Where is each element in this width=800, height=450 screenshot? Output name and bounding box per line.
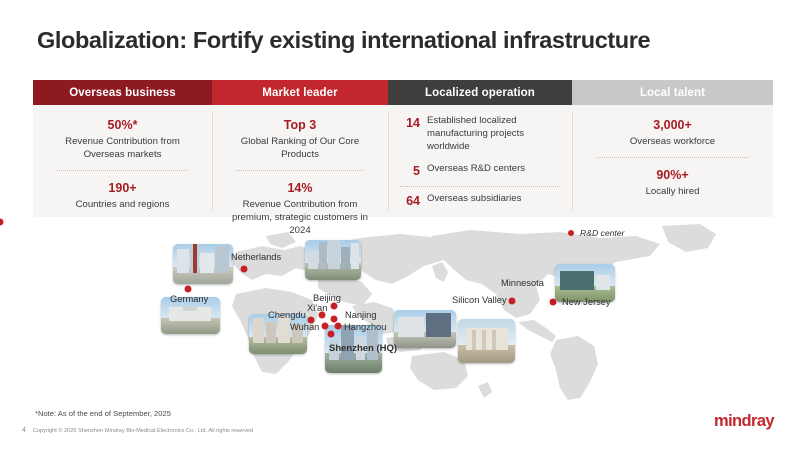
footnote: *Note: As of the end of September, 2025	[35, 409, 171, 418]
header-cell-local-talent: Local talent	[572, 80, 773, 105]
stats-panel: 50%* Revenue Contribution from Overseas …	[33, 105, 773, 217]
map-label-chengdu: Chengdu	[268, 311, 306, 320]
copyright-row: 4 Copyright © 2026 Shenzhen Mindray Bio-…	[22, 427, 253, 434]
photo-netherlands	[173, 244, 233, 284]
marker-germany	[185, 286, 192, 293]
stats-column-local-talent: 3,000+ Overseas workforce 90%+ Locally h…	[572, 105, 773, 217]
map-label-minnesota: Minnesota	[501, 279, 544, 288]
metric-description: Overseas R&D centers	[427, 163, 525, 176]
map-label-netherlands: Netherlands	[231, 253, 281, 262]
metric-description: Global Ranking of Our Core Products	[224, 135, 376, 161]
map-label-hangzhou: Hangzhou	[344, 323, 386, 332]
metric-value: Top 3	[224, 116, 376, 135]
map-label-xian: Xi'an	[307, 304, 327, 313]
marker-silicon-valley	[509, 298, 516, 305]
metric-locally-hired: 90%+ Locally hired	[582, 163, 763, 200]
metric-overseas-workforce: 3,000+ Overseas workforce	[582, 113, 763, 150]
page-number: 4	[22, 427, 26, 434]
photo-nanjing	[394, 310, 456, 348]
stats-column-market-leader: Top 3 Global Ranking of Our Core Product…	[212, 105, 388, 217]
marker-wuhan	[322, 323, 329, 330]
map-label-nanjing: Nanjing	[345, 311, 377, 320]
world-map: R&D center Netherlands Germany Beijing X…	[0, 222, 800, 402]
metric-countries-and-regions: 190+ Countries and regions	[43, 176, 202, 213]
divider	[596, 157, 749, 158]
map-legend-label: R&D center	[580, 229, 624, 238]
metric-description: Overseas subsidiaries	[427, 193, 521, 206]
map-label-beijing: Beijing	[313, 294, 341, 303]
metric-description: Countries and regions	[45, 198, 200, 211]
metric-value: 14	[400, 115, 420, 132]
metric-value: 50%*	[45, 116, 200, 135]
map-label-shenzhen-hq: Shenzhen (HQ)	[329, 344, 397, 354]
map-label-wuhan: Wuhan	[290, 323, 319, 332]
metric-description: Overseas workforce	[584, 135, 761, 148]
divider	[236, 170, 364, 171]
photo-silicon-valley	[458, 319, 515, 363]
metric-global-ranking: Top 3 Global Ranking of Our Core Product…	[222, 113, 378, 163]
spacer	[398, 212, 562, 217]
metric-value: 90%+	[584, 166, 761, 185]
marker-new-jersey	[550, 299, 557, 306]
page-title: Globalization: Fortify existing internat…	[37, 27, 650, 54]
metric-description: Locally hired	[584, 185, 761, 198]
marker-beijing	[331, 303, 338, 310]
header-cell-market-leader: Market leader	[212, 80, 388, 105]
metric-overseas-rd-centers: 5 Overseas R&D centers	[398, 161, 562, 182]
mindray-logo: mindray	[714, 412, 774, 431]
stats-column-overseas-business: 50%* Revenue Contribution from Overseas …	[33, 105, 212, 217]
metric-overseas-subsidiaries: 64 Overseas subsidiaries	[398, 191, 562, 212]
map-label-germany: Germany	[170, 295, 208, 304]
marker-legend-rd-center	[568, 230, 574, 236]
header-cell-overseas-business: Overseas business	[33, 80, 212, 105]
header-cell-localized-operation: Localized operation	[388, 80, 572, 105]
divider	[57, 170, 188, 171]
marker-shenzhen	[328, 331, 335, 338]
metric-value: 5	[400, 163, 420, 180]
metric-value: 14%	[224, 179, 376, 198]
marker-nanjing	[331, 316, 338, 323]
stats-column-localized-operation: 14 Established localized manufacturing p…	[388, 105, 572, 217]
map-label-new-jersey: New Jersey	[562, 298, 611, 307]
metric-description: Established localized manufacturing proj…	[427, 115, 562, 154]
photo-beijing	[305, 240, 361, 280]
metric-value: 3,000+	[584, 116, 761, 135]
marker-hangzhou	[335, 323, 342, 330]
metric-manufacturing-projects: 14 Established localized manufacturing p…	[398, 113, 562, 156]
metric-value: 190+	[45, 179, 200, 198]
metric-revenue-contribution-overseas: 50%* Revenue Contribution from Overseas …	[43, 113, 202, 163]
metric-value: 64	[400, 193, 420, 210]
copyright-text: Copyright © 2026 Shenzhen Mindray Bio-Me…	[33, 428, 253, 434]
marker-netherlands	[241, 266, 248, 273]
category-header-bar: Overseas business Market leader Localize…	[33, 80, 773, 105]
map-label-silicon-valley: Silicon Valley	[452, 296, 507, 305]
divider	[400, 186, 560, 187]
metric-description: Revenue Contribution from Overseas marke…	[45, 135, 200, 161]
